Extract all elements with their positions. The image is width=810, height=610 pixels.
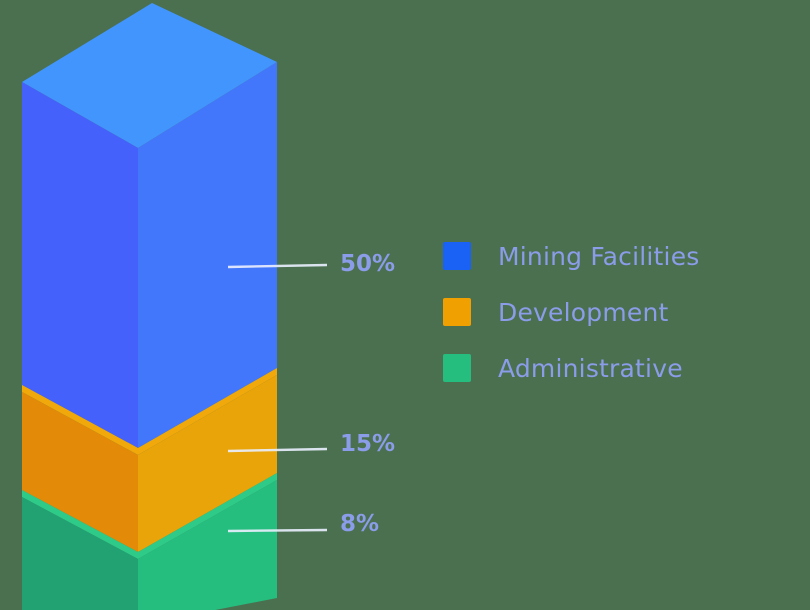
leader-line-administrative <box>228 530 327 531</box>
legend-label-development: Development <box>498 300 669 325</box>
legend-label-mining-facilities: Mining Facilities <box>498 244 700 269</box>
data-label-mining-facilities: 50% <box>340 253 395 276</box>
legend-item-administrative[interactable]: Administrative <box>443 340 763 396</box>
data-label-administrative: 8% <box>340 513 379 536</box>
legend-item-mining-facilities[interactable]: Mining Facilities <box>443 228 763 284</box>
legend-swatch-icon-development <box>443 298 471 326</box>
legend-item-development[interactable]: Development <box>443 284 763 340</box>
chart-legend: Mining Facilities Development Administra… <box>443 228 763 396</box>
legend-swatch-icon-mining-facilities <box>443 242 471 270</box>
legend-label-administrative: Administrative <box>498 356 683 381</box>
legend-swatch-icon-administrative <box>443 354 471 382</box>
data-label-development: 15% <box>340 433 395 456</box>
chart-canvas: 50% 15% 8% Mining Facilities Development… <box>0 0 810 610</box>
bar-segment-mining-facilities[interactable] <box>22 3 277 448</box>
